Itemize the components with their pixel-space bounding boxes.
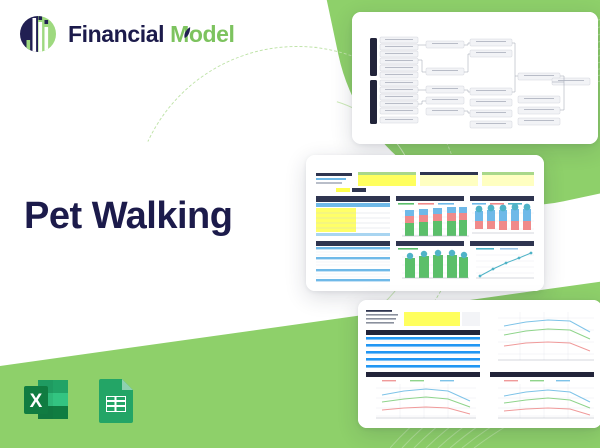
brand-word-model: Model	[170, 21, 234, 48]
brand-word-financial: Financial	[68, 21, 164, 48]
page-title: Pet Walking	[24, 196, 232, 238]
financial-dashboard-card[interactable]	[306, 155, 544, 291]
google-sheets-icon[interactable]	[92, 376, 140, 424]
poster-canvas: Financial Model Pet Walking X	[0, 0, 600, 448]
brand-logo[interactable]: Financial Model	[18, 14, 235, 54]
dupont-analysis-flowchart-card[interactable]	[352, 12, 598, 144]
financial-model-circle-chart-logo	[18, 14, 58, 54]
report-charts	[358, 300, 600, 428]
brand-wordmark: Financial Model	[68, 21, 235, 48]
reports-charts-card[interactable]	[358, 300, 600, 428]
microsoft-excel-icon[interactable]: X	[22, 376, 70, 424]
dashboard-spreadsheet	[306, 155, 544, 291]
flowchart-diagram	[352, 12, 598, 144]
leaf-icon	[181, 26, 192, 39]
file-format-icons: X	[22, 376, 140, 424]
svg-text:X: X	[30, 391, 43, 412]
